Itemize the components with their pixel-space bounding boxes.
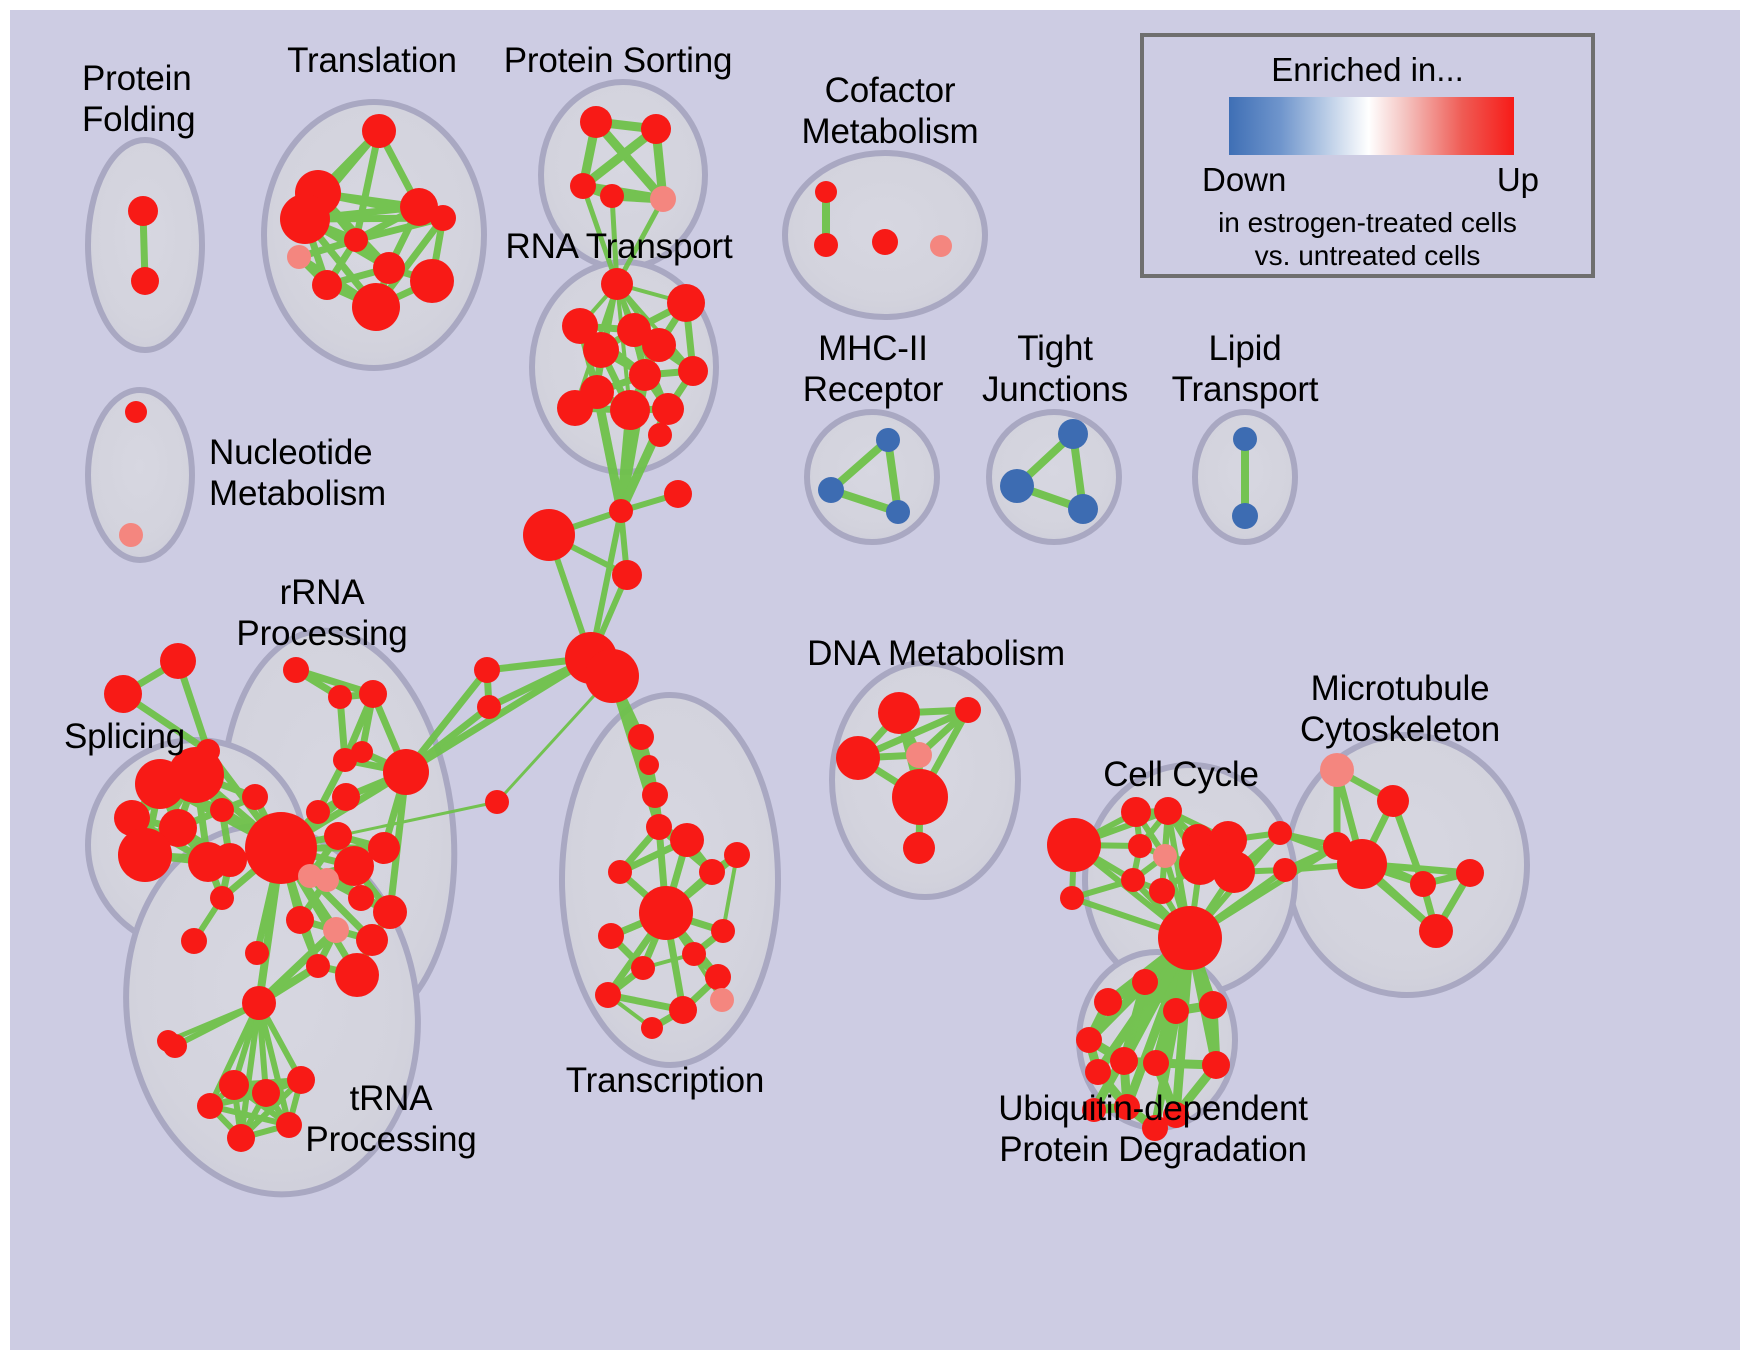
node bbox=[1058, 419, 1088, 449]
cluster-label-cell-cycle: Cell Cycle bbox=[1103, 754, 1259, 795]
node bbox=[682, 942, 706, 966]
node bbox=[595, 982, 621, 1008]
cluster-label-rrna-processing: rRNA Processing bbox=[236, 572, 407, 654]
node bbox=[474, 657, 500, 683]
node bbox=[227, 1124, 255, 1152]
node bbox=[373, 895, 407, 929]
node bbox=[646, 814, 672, 840]
node bbox=[1000, 469, 1034, 503]
cluster-label-nucleotide-metabolism: Nucleotide Metabolism bbox=[209, 432, 386, 514]
node bbox=[628, 724, 654, 750]
node bbox=[906, 742, 932, 768]
cluster-label-cofactor-metabolism: Cofactor Metabolism bbox=[802, 70, 979, 152]
node bbox=[815, 181, 837, 203]
node bbox=[356, 924, 388, 956]
node bbox=[335, 953, 379, 997]
cluster-label-translation: Translation bbox=[287, 40, 457, 81]
node bbox=[570, 173, 596, 199]
node bbox=[1199, 991, 1227, 1019]
node bbox=[601, 268, 633, 300]
node bbox=[1268, 821, 1292, 845]
node bbox=[280, 194, 330, 244]
node bbox=[872, 229, 898, 255]
node bbox=[242, 986, 276, 1020]
node bbox=[664, 480, 692, 508]
node bbox=[219, 1070, 249, 1100]
node bbox=[667, 284, 705, 322]
node bbox=[705, 964, 731, 990]
node bbox=[324, 822, 352, 850]
node bbox=[1213, 851, 1255, 893]
enrichment-map-figure: Protein Folding Translation Protein Sort… bbox=[0, 0, 1750, 1360]
node bbox=[210, 798, 234, 822]
node bbox=[648, 423, 672, 447]
cluster-label-protein-sorting: Protein Sorting bbox=[504, 40, 733, 81]
node bbox=[104, 675, 142, 713]
node bbox=[641, 1017, 663, 1039]
node bbox=[485, 790, 509, 814]
node bbox=[1121, 797, 1151, 827]
node bbox=[583, 332, 619, 368]
node bbox=[1060, 886, 1084, 910]
node bbox=[1110, 1047, 1138, 1075]
node bbox=[710, 988, 734, 1012]
node bbox=[585, 649, 639, 703]
node bbox=[1163, 998, 1189, 1024]
node bbox=[652, 393, 684, 425]
node bbox=[1076, 1027, 1102, 1053]
node bbox=[1410, 871, 1436, 897]
legend-down-label: Down bbox=[1202, 161, 1286, 199]
node bbox=[160, 643, 196, 679]
legend-subtitle-line1: in estrogen-treated cells bbox=[1144, 207, 1591, 239]
node bbox=[903, 832, 935, 864]
node bbox=[580, 375, 614, 409]
node bbox=[814, 233, 838, 257]
node bbox=[930, 235, 952, 257]
node bbox=[650, 186, 676, 212]
node bbox=[1419, 914, 1453, 948]
node bbox=[213, 843, 247, 877]
node bbox=[362, 114, 396, 148]
node bbox=[1132, 969, 1158, 995]
legend-color-gradient-bar bbox=[1229, 97, 1514, 155]
node bbox=[1085, 1059, 1111, 1085]
node bbox=[323, 917, 349, 943]
node bbox=[1154, 797, 1182, 825]
node bbox=[886, 500, 910, 524]
node bbox=[1202, 1051, 1230, 1079]
node bbox=[1320, 753, 1354, 787]
node bbox=[383, 749, 429, 795]
node bbox=[410, 259, 454, 303]
cluster-label-protein-folding: Protein Folding bbox=[82, 58, 195, 140]
node bbox=[724, 842, 750, 868]
node bbox=[128, 196, 158, 226]
node bbox=[1233, 427, 1257, 451]
node bbox=[252, 1079, 280, 1107]
legend-subtitle-line2: vs. untreated cells bbox=[1144, 240, 1591, 272]
node bbox=[286, 906, 314, 934]
node bbox=[892, 769, 948, 825]
node bbox=[283, 657, 309, 683]
node bbox=[334, 846, 374, 886]
node bbox=[197, 1093, 223, 1119]
node bbox=[131, 267, 159, 295]
node bbox=[312, 270, 342, 300]
node bbox=[430, 205, 456, 231]
node bbox=[351, 741, 373, 763]
cluster-label-mhc-ii-receptor: MHC-II Receptor bbox=[803, 328, 943, 410]
node bbox=[678, 356, 708, 386]
node bbox=[332, 783, 360, 811]
node bbox=[157, 1030, 179, 1052]
node bbox=[670, 823, 704, 857]
node bbox=[523, 509, 575, 561]
node bbox=[359, 680, 387, 708]
hull-mhc-ii-receptor bbox=[807, 412, 937, 542]
cluster-label-transcription: Transcription bbox=[566, 1060, 764, 1101]
node bbox=[181, 928, 207, 954]
node bbox=[119, 523, 143, 547]
node bbox=[878, 692, 920, 734]
node bbox=[631, 956, 655, 980]
node bbox=[348, 885, 374, 911]
node bbox=[344, 228, 368, 252]
cluster-label-rna-transport: RNA Transport bbox=[506, 226, 733, 267]
node bbox=[642, 782, 668, 808]
node bbox=[306, 800, 330, 824]
node bbox=[955, 697, 981, 723]
node bbox=[610, 390, 650, 430]
cluster-label-splicing: Splicing bbox=[64, 716, 185, 757]
node bbox=[818, 477, 844, 503]
cluster-label-microtubule-cytoskeleton: Microtubule Cytoskeleton bbox=[1300, 668, 1500, 750]
node bbox=[242, 784, 268, 810]
node bbox=[609, 499, 633, 523]
node bbox=[1143, 1050, 1169, 1076]
node bbox=[1094, 988, 1122, 1016]
node bbox=[306, 954, 330, 978]
node bbox=[118, 828, 172, 882]
node bbox=[836, 736, 880, 780]
node bbox=[641, 114, 671, 144]
node bbox=[328, 685, 352, 709]
node bbox=[1456, 859, 1484, 887]
node bbox=[125, 401, 147, 423]
cluster-label-trna-processing: tRNA Processing bbox=[305, 1078, 476, 1160]
cluster-label-tight-junctions: Tight Junctions bbox=[982, 328, 1128, 410]
node bbox=[612, 560, 642, 590]
node bbox=[1377, 785, 1409, 817]
node bbox=[669, 996, 697, 1024]
cluster-label-dna-metabolism: DNA Metabolism bbox=[807, 633, 1065, 674]
node bbox=[1149, 878, 1175, 904]
node bbox=[598, 923, 624, 949]
node bbox=[629, 359, 661, 391]
node bbox=[1273, 858, 1297, 882]
legend-title: Enriched in... bbox=[1144, 51, 1591, 89]
node bbox=[699, 859, 725, 885]
node bbox=[639, 886, 693, 940]
node bbox=[373, 252, 405, 284]
cluster-label-ubiquitin-protein-degradation: Ubiquitin-dependent Protein Degradation bbox=[998, 1088, 1308, 1170]
node bbox=[1158, 906, 1222, 970]
node bbox=[642, 328, 676, 362]
node bbox=[1068, 494, 1098, 524]
node bbox=[1128, 834, 1152, 858]
node bbox=[876, 428, 900, 452]
legend-up-label: Up bbox=[1497, 161, 1539, 199]
node bbox=[1047, 818, 1101, 872]
node bbox=[245, 941, 269, 965]
node bbox=[210, 886, 234, 910]
node bbox=[1153, 844, 1177, 868]
node bbox=[711, 919, 735, 943]
legend-panel: Enriched in... Down Up in estrogen-treat… bbox=[1140, 33, 1595, 278]
node bbox=[608, 860, 632, 884]
node bbox=[352, 283, 400, 331]
node bbox=[276, 1112, 302, 1138]
node bbox=[1232, 503, 1258, 529]
node bbox=[368, 832, 400, 864]
node bbox=[287, 245, 311, 269]
node bbox=[1121, 868, 1145, 892]
node bbox=[315, 868, 339, 892]
node bbox=[600, 184, 624, 208]
node bbox=[477, 695, 501, 719]
cluster-label-lipid-transport: Lipid Transport bbox=[1172, 328, 1319, 410]
node bbox=[1337, 839, 1387, 889]
node bbox=[580, 106, 612, 138]
node bbox=[639, 755, 659, 775]
